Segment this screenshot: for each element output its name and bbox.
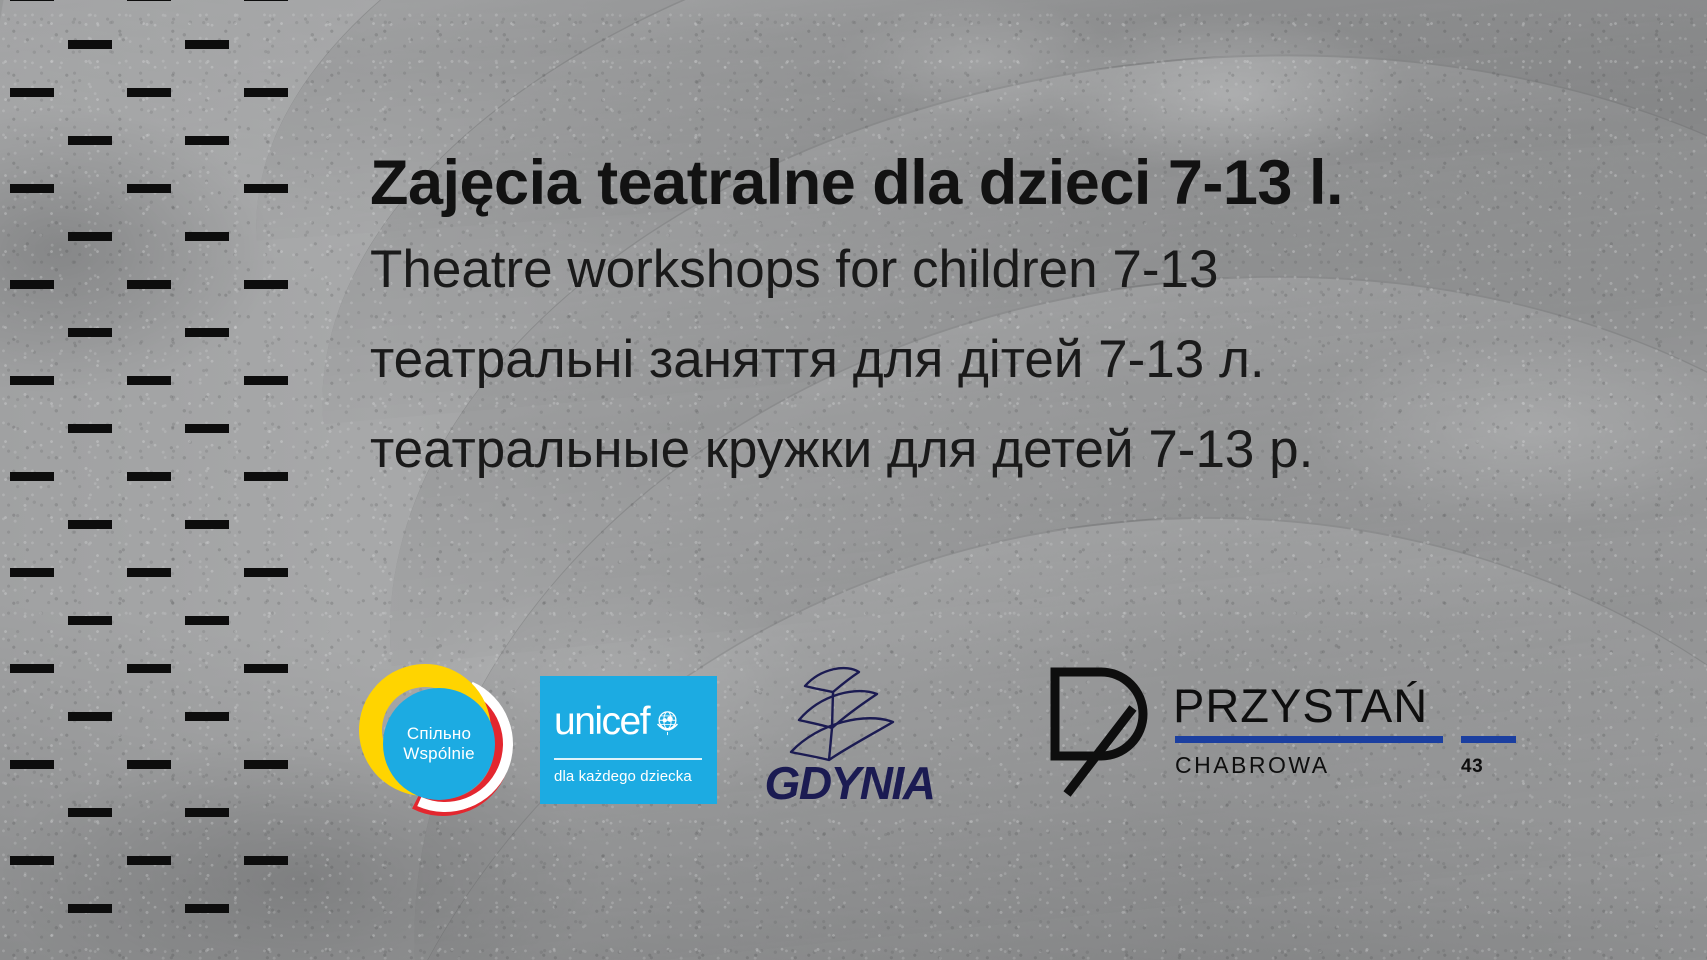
dash-mark <box>244 856 288 865</box>
dash-mark <box>68 904 112 913</box>
dash-mark <box>10 0 54 1</box>
dash-mark <box>10 568 54 577</box>
subtitle-uk: театральні заняття для дітей 7-13 л. <box>370 332 1670 388</box>
dash-mark <box>185 136 229 145</box>
dash-mark <box>68 232 112 241</box>
spilno-label-uk: Спільно <box>407 724 471 744</box>
gdynia-sail-icon <box>785 660 917 764</box>
dash-mark <box>68 808 112 817</box>
dash-mark <box>127 568 171 577</box>
dash-mark <box>244 472 288 481</box>
unicef-wordmark-row: unicef <box>554 702 683 741</box>
dash-mark <box>244 376 288 385</box>
dash-mark <box>68 616 112 625</box>
dash-mark <box>127 0 171 1</box>
przystan-accent-bar <box>1175 736 1443 743</box>
dash-mark <box>185 616 229 625</box>
dash-mark <box>10 760 54 769</box>
unicef-globe-emblem-icon <box>652 706 683 737</box>
unicef-wordmark: unicef <box>554 702 649 741</box>
logo-row: Спільно Wspólnie unicef <box>355 648 1655 818</box>
spilno-blue-circle: Спільно Wspólnie <box>383 688 495 800</box>
dash-pattern-decoration <box>0 0 290 960</box>
przystan-p-mark-icon <box>1045 662 1157 802</box>
dash-mark <box>127 280 171 289</box>
poster-canvas: Zajęcia teatralne dla dzieci 7-13 l. The… <box>0 0 1707 960</box>
dash-mark <box>68 40 112 49</box>
dash-mark <box>10 184 54 193</box>
dash-mark <box>244 664 288 673</box>
dash-mark <box>127 760 171 769</box>
dash-mark <box>10 376 54 385</box>
dash-mark <box>10 472 54 481</box>
dash-mark <box>244 184 288 193</box>
dash-mark <box>244 0 288 1</box>
spilno-label-pl: Wspólnie <box>403 744 475 764</box>
dash-mark <box>127 376 171 385</box>
unicef-tagline: dla każdego dziecka <box>554 768 692 785</box>
dash-mark <box>10 280 54 289</box>
dash-mark <box>185 328 229 337</box>
przystan-wordmark: PRZYSTAŃ <box>1173 678 1428 733</box>
headline-block: Zajęcia teatralne dla dzieci 7-13 l. The… <box>370 150 1670 513</box>
subtitle-ru: театральные кружки для детей 7-13 р. <box>370 422 1670 478</box>
dash-mark <box>244 760 288 769</box>
dash-mark <box>68 424 112 433</box>
dash-mark <box>185 808 229 817</box>
dash-mark <box>244 568 288 577</box>
dash-mark <box>10 856 54 865</box>
przystan-street-number: 43 <box>1461 756 1483 778</box>
dash-mark <box>185 424 229 433</box>
dash-mark <box>185 232 229 241</box>
logo-unicef: unicef dla każdego dziecka <box>540 676 717 804</box>
dash-mark <box>185 712 229 721</box>
logo-gdynia: GDYNIA <box>747 660 952 810</box>
dash-mark <box>127 856 171 865</box>
subtitle-en: Theatre workshops for children 7-13 <box>370 242 1670 298</box>
dash-mark <box>127 184 171 193</box>
dash-mark <box>185 40 229 49</box>
dash-mark <box>127 472 171 481</box>
logo-przystan-chabrowa: PRZYSTAŃ CHABROWA 43 <box>1045 660 1565 808</box>
dash-mark <box>68 328 112 337</box>
page-title: Zajęcia teatralne dla dzieci 7-13 l. <box>370 150 1670 216</box>
przystan-street-label: CHABROWA <box>1175 752 1330 779</box>
dash-mark <box>10 664 54 673</box>
dash-mark <box>68 136 112 145</box>
dash-mark <box>127 88 171 97</box>
gdynia-wordmark: GDYNIA <box>747 756 952 810</box>
dash-mark <box>68 712 112 721</box>
dash-mark <box>185 520 229 529</box>
logo-spilno-wspolnie: Спільно Wspólnie <box>355 656 523 816</box>
dash-mark <box>185 904 229 913</box>
dash-mark <box>244 280 288 289</box>
dash-mark <box>127 664 171 673</box>
unicef-divider <box>554 758 702 760</box>
przystan-accent-bar-short <box>1461 736 1516 743</box>
dash-mark <box>10 88 54 97</box>
dash-mark <box>68 520 112 529</box>
dash-mark <box>244 88 288 97</box>
